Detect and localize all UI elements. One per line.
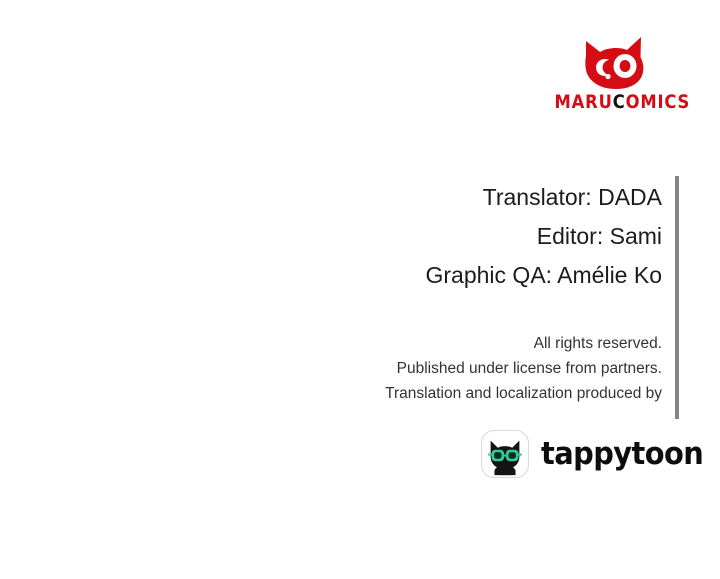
credits-vertical-rule [675,176,679,419]
tappytoon-wordmark: tappytoon [541,437,703,471]
wordmark-c: C [613,91,626,113]
credits-block: Translator: DADA Editor: Sami Graphic QA… [300,178,662,295]
credit-line-translator: Translator: DADA [300,178,662,217]
credit-line-editor: Editor: Sami [300,217,662,256]
cat-with-glasses-icon [481,430,529,478]
maru-comics-wordmark: MARUCOMICS [555,92,672,112]
owl-face-icon [583,36,645,90]
credits-page: MARUCOMICS Translator: DADA Editor: Sami… [0,0,720,579]
legal-block: All rights reserved. Published under lic… [300,331,662,406]
maru-comics-logo: MARUCOMICS [545,36,681,116]
legal-line-produced-by: Translation and localization produced by [300,381,662,406]
tappytoon-logo: tappytoon [481,429,673,479]
credit-line-graphic-qa: Graphic QA: Amélie Ko [300,256,662,295]
wordmark-maru: MARU [555,91,613,113]
wordmark-omics: OMICS [626,91,691,113]
legal-line-license: Published under license from partners. [300,356,662,381]
legal-line-rights: All rights reserved. [300,331,662,356]
